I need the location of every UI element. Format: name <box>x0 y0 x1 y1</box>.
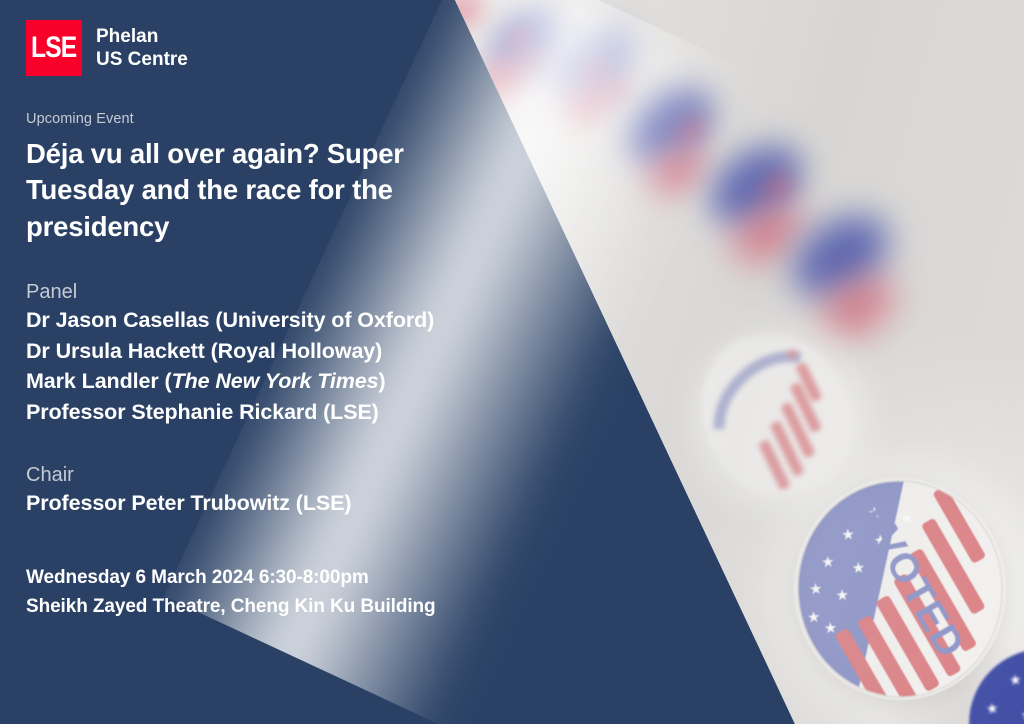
person-affiliation-italic: The New York Times <box>172 369 379 393</box>
person-line: Dr Ursula Hackett (Royal Holloway) <box>26 336 496 367</box>
centre-name-line1: Phelan <box>96 25 188 48</box>
event-datetime: Wednesday 6 March 2024 6:30-8:00pm <box>26 563 496 592</box>
poster-content: LSE Phelan US Centre Upcoming Event Déja… <box>26 0 496 724</box>
svg-text:★: ★ <box>835 586 850 605</box>
svg-text:★: ★ <box>1020 707 1024 724</box>
panel-label: Panel <box>26 279 496 305</box>
chair-label: Chair <box>26 462 496 488</box>
event-venue: Sheikh Zayed Theatre, Cheng Kin Ku Build… <box>26 592 496 621</box>
panel-section: Panel Dr Jason Casellas (University of O… <box>26 279 496 428</box>
svg-text:★: ★ <box>808 579 823 598</box>
centre-name-line2: US Centre <box>96 48 188 71</box>
svg-text:★: ★ <box>985 701 999 718</box>
svg-text:★: ★ <box>823 618 838 637</box>
event-title: Déja vu all over again? Super Tuesday an… <box>26 136 446 245</box>
chair-members: Professor Peter Trubowitz (LSE) <box>26 488 496 519</box>
event-details: Wednesday 6 March 2024 6:30-8:00pm Sheik… <box>26 563 496 622</box>
person-line: Mark Landler (The New York Times) <box>26 366 496 397</box>
event-kicker: Upcoming Event <box>26 111 496 127</box>
lse-logo-text: LSE <box>31 33 76 63</box>
svg-text:★: ★ <box>851 558 866 577</box>
centre-name: Phelan US Centre <box>96 25 188 71</box>
lse-logo-icon: LSE <box>26 20 82 76</box>
person-line: Professor Stephanie Rickard (LSE) <box>26 397 496 428</box>
panel-members: Dr Jason Casellas (University of Oxford)… <box>26 305 496 428</box>
svg-text:★: ★ <box>1008 672 1022 689</box>
svg-text:★: ★ <box>821 553 836 572</box>
svg-text:★: ★ <box>841 525 856 544</box>
person-line: Professor Peter Trubowitz (LSE) <box>26 488 496 519</box>
svg-text:★: ★ <box>806 608 821 627</box>
person-line: Dr Jason Casellas (University of Oxford) <box>26 305 496 336</box>
chair-section: Chair Professor Peter Trubowitz (LSE) <box>26 462 496 519</box>
event-poster: ★ ★ ★ ★ ★ ★ ★ ★ ★ ★ <box>0 0 1024 724</box>
lse-phelan-branding: LSE Phelan US Centre <box>26 0 496 76</box>
